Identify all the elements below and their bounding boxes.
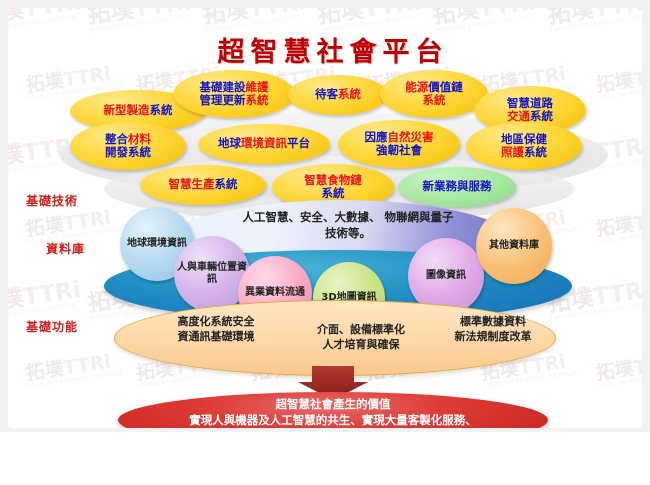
side-label-tech: 基礎技術 [26, 192, 78, 209]
watermark-tile: 拓墣TTRiTOPOLOGY RESEARCH INSTITUTE [595, 207, 642, 245]
ellipse-energy-value-chain[interactable]: 能源價值鏈系統 [380, 70, 488, 118]
watermark-tile: 拓墣TTRiTOPOLOGY RESEARCH INSTITUTE [25, 351, 124, 389]
core-technology-text: 人工智慧、安全、大數據、 物聯網與量子技術等。 [238, 210, 458, 241]
side-label-function: 基礎功能 [26, 318, 78, 335]
circle-other-database[interactable]: 其他資料庫 [476, 208, 552, 284]
slide-card: 拓墣TTRiTOPOLOGY RESEARCH INSTITUTE拓墣TTRiT… [8, 8, 642, 428]
watermark-tile: 拓墣TTRiTOPOLOGY RESEARCH INSTITUTE [595, 63, 642, 101]
ellipse-hospitality-system[interactable]: 待客系統 [288, 75, 388, 115]
value-summary-banner: 超智慧社會產生的價值 實現人與機器及人工智慧的共生、實現大量客製化服務、 消除服… [118, 392, 548, 428]
watermark-tile: 拓墣TTRiTOPOLOGY RESEARCH INSTITUTE [595, 351, 642, 389]
base-item-standardization-talent[interactable]: 介面、設備標準化人才培育與確保 [286, 322, 436, 353]
value-heading: 超智慧社會產生的價值 [118, 397, 548, 412]
ellipse-disaster-resilient-society[interactable]: 因應自然災害強韌社會 [338, 120, 460, 168]
value-line-1: 實現人與機器及人工智慧的共生、實現大量客製化服務、 [118, 413, 548, 428]
base-item-data-standard-reform[interactable]: 標準數據資料新法規制度改革 [428, 314, 558, 345]
slide-canvas: 拓墣TTRiTOPOLOGY RESEARCH INSTITUTE拓墣TTRiT… [0, 0, 650, 485]
ellipse-regional-health-care[interactable]: 地區保健照護系統 [466, 122, 582, 170]
base-item-system-security[interactable]: 高度化系統安全資通訊基礎環境 [146, 314, 286, 345]
page-title: 超智慧社會平台 [8, 30, 642, 69]
ellipse-new-business-services[interactable]: 新業務與服務 [398, 167, 516, 207]
footer-bar: 版權所有 · 翻印必究 Source：日本總合科學技術創新會議； 拓墣產業研究院… [0, 432, 650, 485]
stage-line-1: 人工智慧、安全、大數據、 [242, 210, 380, 224]
ellipse-infrastructure-maintenance[interactable]: 基礎建設維護管理更新系統 [173, 70, 295, 118]
side-label-database: 資料庫 [46, 240, 85, 257]
ellipse-integrated-materials[interactable]: 整合材料開發系統 [70, 122, 186, 170]
ellipse-earth-environment-platform[interactable]: 地球環境資訊平台 [198, 124, 330, 164]
ellipse-smart-production[interactable]: 智慧生產系統 [140, 165, 266, 205]
watermark-tile: 拓墣TTRiTOPOLOGY RESEARCH INSTITUTE [8, 279, 83, 322]
